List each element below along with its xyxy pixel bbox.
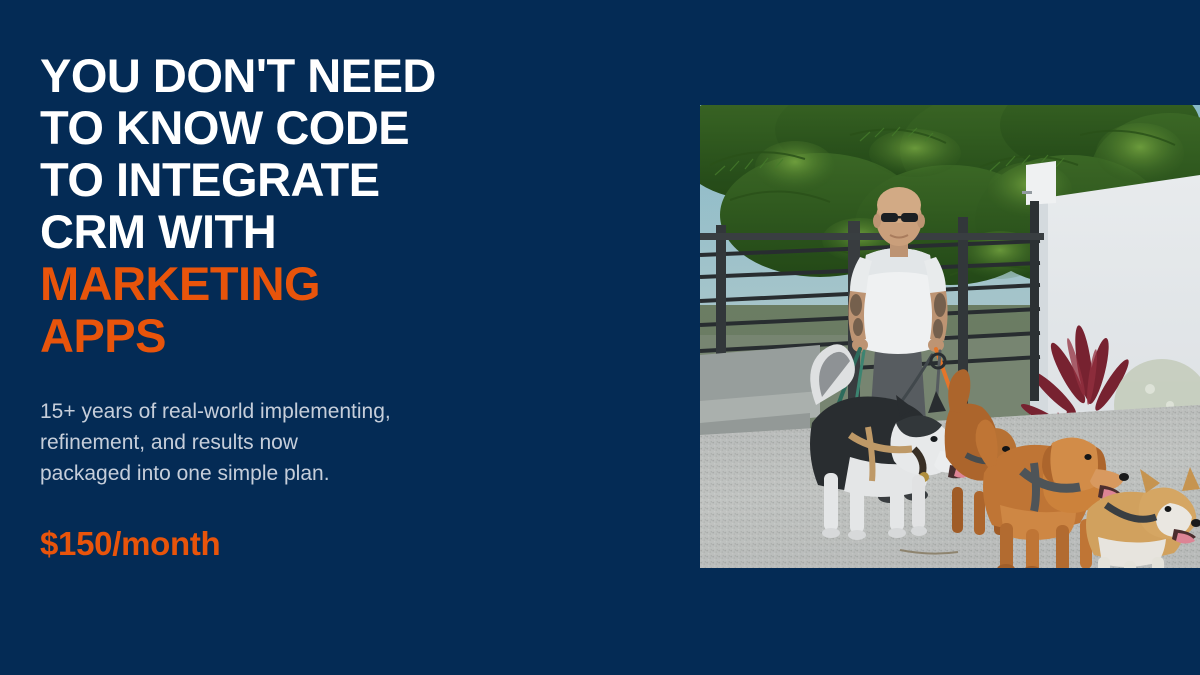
price-label: $150/month (40, 525, 660, 563)
subcopy-line-3: packaged into one simple plan. (40, 458, 540, 489)
subcopy-line-1: 15+ years of real-world implementing, (40, 396, 540, 427)
subcopy-line-2: refinement, and results now (40, 427, 540, 458)
headline-line-4: CRM WITH (40, 206, 660, 258)
page-title: YOU DON'T NEED TO KNOW CODE TO INTEGRATE… (40, 50, 660, 362)
headline-accent-line-2: APPS (40, 310, 660, 362)
headline-accent-line-1: MARKETING (40, 258, 660, 310)
marketing-slide: YOU DON'T NEED TO KNOW CODE TO INTEGRATE… (0, 0, 1200, 675)
copy-column: YOU DON'T NEED TO KNOW CODE TO INTEGRATE… (40, 50, 660, 563)
subcopy-text: 15+ years of real-world implementing, re… (40, 396, 540, 489)
headline-line-1: YOU DON'T NEED (40, 50, 660, 102)
hero-photo-illustration (700, 105, 1200, 568)
hero-photo (700, 105, 1200, 568)
headline-line-2: TO KNOW CODE (40, 102, 660, 154)
headline-line-3: TO INTEGRATE (40, 154, 660, 206)
